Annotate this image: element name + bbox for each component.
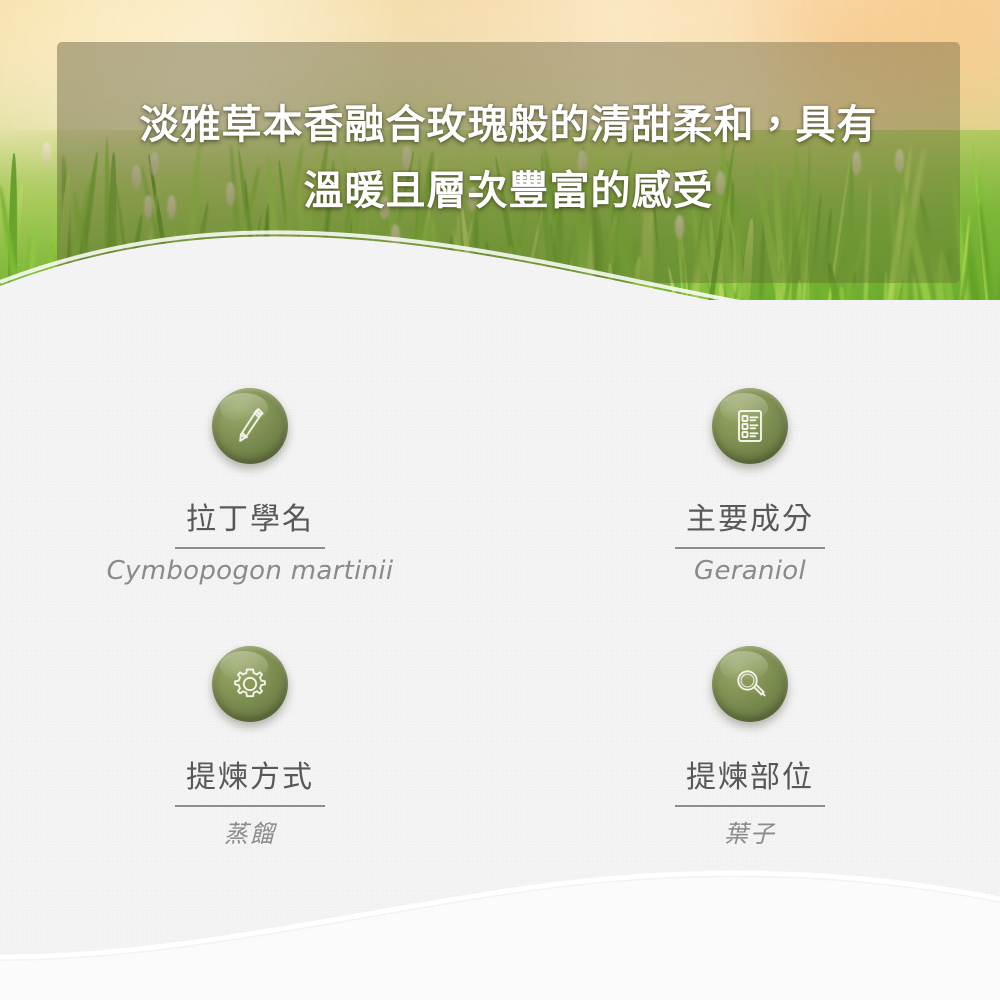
spec-card-latin-name: 拉丁學名 Cymbopogon martinii [0, 300, 500, 586]
icon-wrap [500, 388, 1000, 464]
spec-value: 葉子 [500, 814, 1000, 849]
spec-value: Cymbopogon martinii [0, 556, 500, 586]
spec-label: 提煉方式 [0, 752, 500, 796]
checklist-icon [712, 388, 788, 464]
pen-icon [212, 388, 288, 464]
spec-divider [175, 805, 325, 807]
spec-label: 主要成分 [500, 494, 1000, 538]
footer-wave-divider [0, 865, 1000, 1000]
spec-grid: 拉丁學名 Cymbopogon martinii [0, 300, 1000, 849]
spec-value: Geraniol [500, 556, 1000, 586]
magnifier-icon [712, 646, 788, 722]
spec-card-main-ingredient: 主要成分 Geraniol [500, 300, 1000, 586]
icon-wrap [500, 646, 1000, 722]
spec-content-area: 拉丁學名 Cymbopogon martinii [0, 300, 1000, 1000]
spec-label: 提煉部位 [500, 752, 1000, 796]
spec-value: 蒸餾 [0, 814, 500, 849]
hero-headline: 淡雅草本香融合玫瑰般的清甜柔和，具有 溫暖且層次豐富的感受 [57, 92, 960, 224]
spec-card-extraction-part: 提煉部位 葉子 [500, 586, 1000, 849]
headline-line-1: 淡雅草本香融合玫瑰般的清甜柔和，具有 [57, 92, 960, 158]
hero-banner: 淡雅草本香融合玫瑰般的清甜柔和，具有 溫暖且層次豐富的感受 [0, 0, 1000, 330]
spec-divider [675, 547, 825, 549]
spec-divider [175, 547, 325, 549]
spec-card-extraction-method: 提煉方式 蒸餾 [0, 586, 500, 849]
spec-label: 拉丁學名 [0, 494, 500, 538]
gear-icon [212, 646, 288, 722]
icon-wrap [0, 388, 500, 464]
product-info-page: 淡雅草本香融合玫瑰般的清甜柔和，具有 溫暖且層次豐富的感受 [0, 0, 1000, 1000]
icon-wrap [0, 646, 500, 722]
spec-divider [675, 805, 825, 807]
